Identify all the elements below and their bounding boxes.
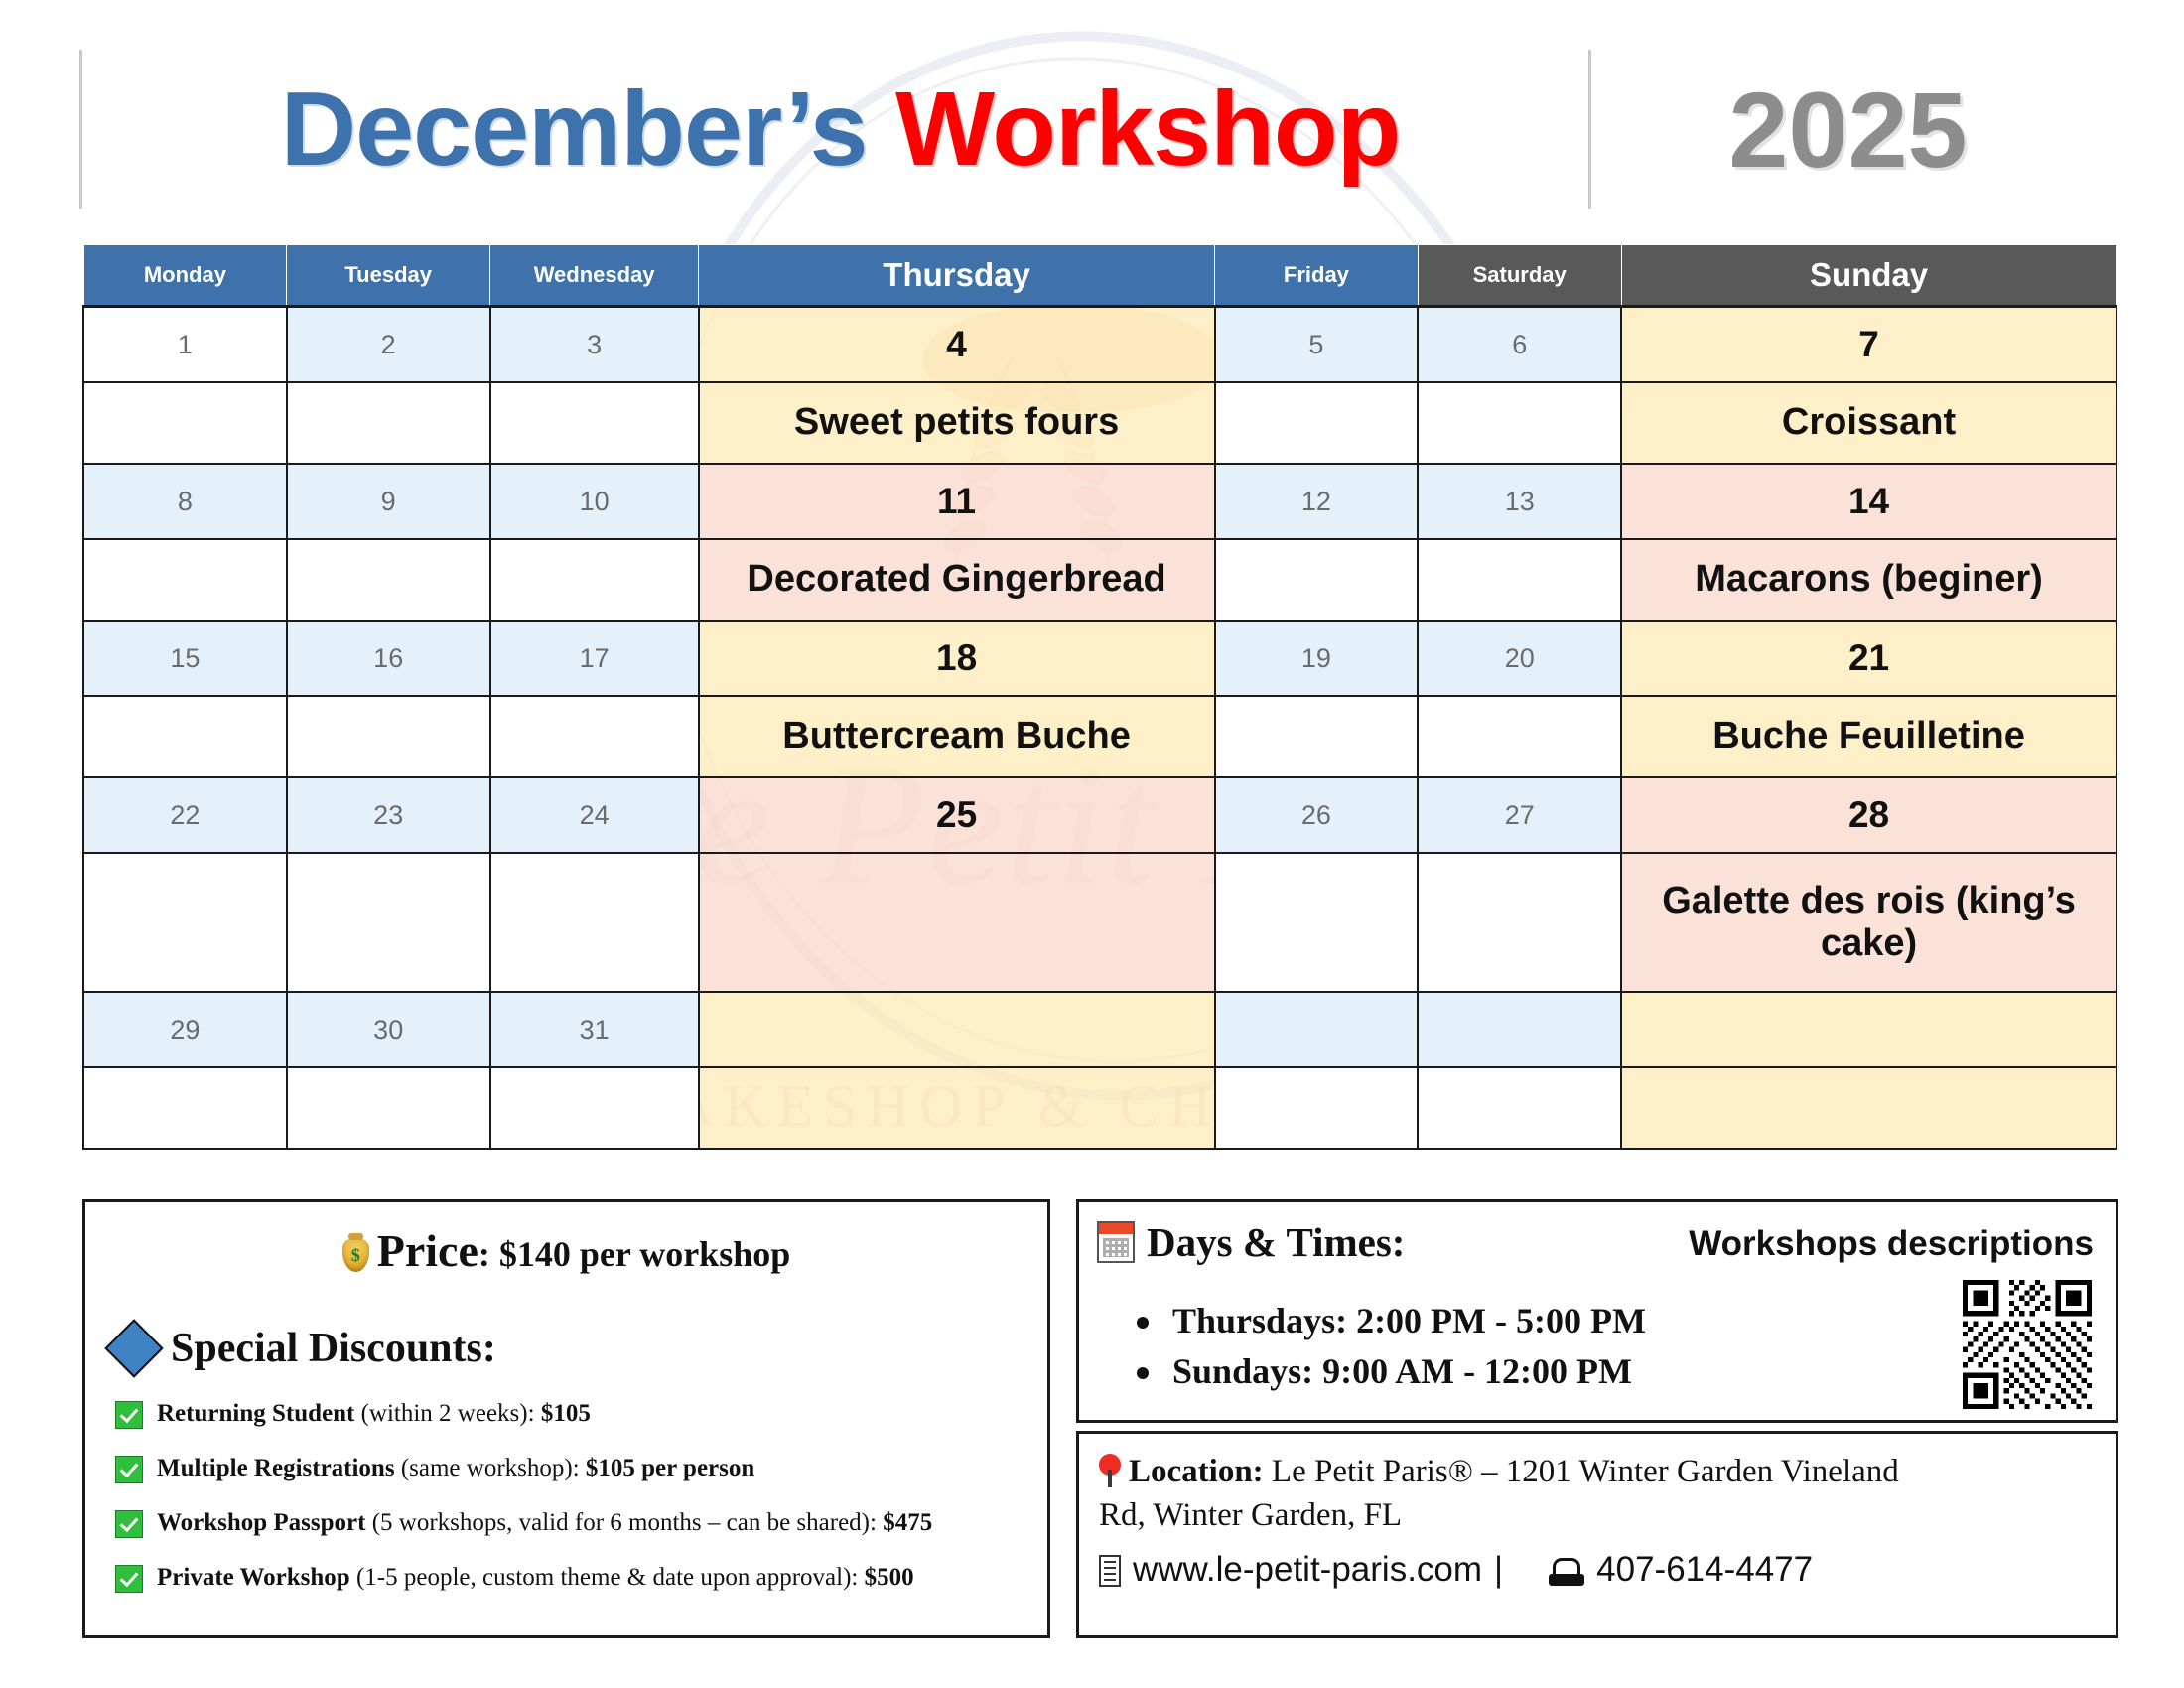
event-cell[interactable]	[287, 539, 490, 621]
date-cell[interactable]: 2	[287, 307, 490, 383]
title-workshop-text: Workshop	[895, 70, 1400, 188]
phone-number[interactable]: 407-614-4477	[1596, 1547, 1813, 1594]
calendar-event-row: Decorated Gingerbread Macarons (beginer)	[83, 539, 2116, 621]
date-cell[interactable]: 29	[83, 992, 287, 1067]
event-cell[interactable]	[83, 696, 287, 777]
contact-separator: |	[1494, 1547, 1503, 1594]
date-cell[interactable]	[1621, 992, 2116, 1067]
event-cell[interactable]	[287, 382, 490, 464]
event-cell[interactable]	[287, 853, 490, 992]
event-cell[interactable]	[1418, 853, 1621, 992]
event-cell[interactable]: Croissant	[1621, 382, 2116, 464]
date-cell[interactable]: 28	[1621, 777, 2116, 853]
date-cell[interactable]: 11	[699, 464, 1215, 539]
date-cell[interactable]: 26	[1215, 777, 1419, 853]
date-cell[interactable]: 3	[490, 307, 699, 383]
date-cell[interactable]: 21	[1621, 621, 2116, 696]
date-cell[interactable]: 13	[1418, 464, 1621, 539]
event-cell[interactable]	[83, 539, 287, 621]
event-cell[interactable]	[1215, 539, 1419, 621]
date-cell[interactable]: 24	[490, 777, 699, 853]
event-cell[interactable]	[287, 696, 490, 777]
date-cell[interactable]: 5	[1215, 307, 1419, 383]
price-panel: Price: $140 per workshop Special Discoun…	[82, 1199, 1050, 1638]
event-cell[interactable]	[1215, 1067, 1419, 1149]
calendar-icon	[1097, 1221, 1135, 1263]
event-cell[interactable]: Buche Feuilletine	[1621, 696, 2116, 777]
discount-detail: (same workshop):	[401, 1455, 586, 1481]
event-cell[interactable]	[1215, 382, 1419, 464]
event-cell-macarons[interactable]: Macarons (beginer)	[1621, 539, 2116, 621]
location-label: Location:	[1129, 1454, 1264, 1489]
calendar-table: Monday Tuesday Wednesday Thursday Friday…	[82, 244, 2117, 1150]
calendar-date-row: 8 9 10 11 12 13 14	[83, 464, 2116, 539]
special-discounts-heading: Special Discounts:	[113, 1325, 1047, 1372]
calendar-header-row: Monday Tuesday Wednesday Thursday Friday…	[83, 245, 2116, 307]
discount-name: Workshop Passport	[157, 1509, 372, 1536]
date-cell[interactable]: 15	[83, 621, 287, 696]
date-cell[interactable]: 20	[1418, 621, 1621, 696]
date-cell[interactable]: 31	[490, 992, 699, 1067]
special-discounts-label: Special Discounts:	[171, 1325, 496, 1372]
calendar-event-row: Galette des rois (king’s cake)	[83, 853, 2116, 992]
calendar-event-row: Buttercream Buche Buche Feuilletine	[83, 696, 2116, 777]
discount-amount: $500	[865, 1564, 914, 1591]
location-address-line2: Rd, Winter Garden, FL	[1099, 1493, 2096, 1537]
page-title: December’s Workshop	[79, 50, 1588, 209]
days-times-panel: Days & Times: Workshops descriptions Thu…	[1076, 1199, 2118, 1423]
day-header-friday: Friday	[1215, 245, 1419, 307]
page-title-bar: December’s Workshop 2025	[79, 50, 2105, 209]
phone-icon	[1549, 1556, 1584, 1586]
date-cell[interactable]: 4	[699, 307, 1215, 383]
event-cell[interactable]: Galette des rois (king’s cake)	[1621, 853, 2116, 992]
calendar-date-row: 29 30 31	[83, 992, 2116, 1067]
price-label: Price	[377, 1225, 478, 1276]
qr-code-icon[interactable]	[1963, 1280, 2092, 1409]
event-cell[interactable]: Sweet petits fours	[699, 382, 1215, 464]
day-header-saturday: Saturday	[1418, 245, 1621, 307]
diamond-icon	[104, 1319, 163, 1377]
event-cell[interactable]	[490, 539, 699, 621]
calendar-date-row: 15 16 17 18 19 20 21	[83, 621, 2116, 696]
discount-name: Multiple Registrations	[157, 1455, 401, 1481]
date-cell[interactable]: 7	[1621, 307, 2116, 383]
day-header-wednesday: Wednesday	[490, 245, 699, 307]
discount-amount: $105 per person	[586, 1455, 754, 1481]
money-bag-icon	[342, 1238, 369, 1272]
event-cell[interactable]	[1215, 696, 1419, 777]
event-cell[interactable]	[287, 1067, 490, 1149]
date-cell[interactable]: 17	[490, 621, 699, 696]
date-cell[interactable]: 18	[699, 621, 1215, 696]
calendar-event-row: Sweet petits fours Croissant	[83, 382, 2116, 464]
days-times-label: Days & Times:	[1147, 1218, 1405, 1266]
calendar-date-row: 22 23 24 25 26 27 28	[83, 777, 2116, 853]
check-icon	[115, 1565, 143, 1593]
event-cell[interactable]	[1418, 382, 1621, 464]
discount-detail: (5 workshops, valid for 6 months – can b…	[372, 1509, 883, 1536]
event-cell[interactable]	[83, 1067, 287, 1149]
date-cell[interactable]	[1418, 992, 1621, 1067]
title-year: 2025	[1588, 50, 2105, 209]
date-cell[interactable]: 9	[287, 464, 490, 539]
date-cell[interactable]: 23	[287, 777, 490, 853]
date-cell[interactable]: 14	[1621, 464, 2116, 539]
location-panel: Location: Le Petit Paris® – 1201 Winter …	[1076, 1431, 2118, 1638]
date-cell[interactable]: 1	[83, 307, 287, 383]
check-icon	[115, 1401, 143, 1429]
event-cell[interactable]	[83, 382, 287, 464]
discount-amount: $105	[541, 1400, 591, 1427]
check-icon	[115, 1510, 143, 1538]
event-cell[interactable]	[699, 1067, 1215, 1149]
list-item: Workshop Passport (5 workshops, valid fo…	[115, 1509, 1047, 1537]
price-value: : $140 per workshop	[478, 1234, 790, 1274]
date-cell[interactable]: 12	[1215, 464, 1419, 539]
event-cell[interactable]: Decorated Gingerbread	[699, 539, 1215, 621]
discount-name: Private Workshop	[157, 1564, 356, 1591]
list-item: Multiple Registrations (same workshop): …	[115, 1455, 1047, 1482]
event-cell: Macarons (beginer)	[1695, 558, 2043, 600]
date-cell[interactable]: 6	[1418, 307, 1621, 383]
date-cell[interactable]: 30	[287, 992, 490, 1067]
event-cell[interactable]	[490, 382, 699, 464]
event-cell[interactable]	[1418, 1067, 1621, 1149]
location-text: Location: Le Petit Paris® – 1201 Winter …	[1099, 1448, 2096, 1594]
location-address-line1: Le Petit Paris® – 1201 Winter Garden Vin…	[1264, 1454, 1899, 1489]
event-cell[interactable]	[1418, 696, 1621, 777]
event-cell[interactable]	[490, 853, 699, 992]
list-item: Returning Student (within 2 weeks): $105	[115, 1400, 1047, 1428]
discount-detail: (within 2 weeks):	[361, 1400, 541, 1427]
workshops-descriptions-label: Workshops descriptions	[1689, 1224, 2094, 1264]
event-cell[interactable]	[490, 1067, 699, 1149]
event-cell[interactable]	[1621, 1067, 2116, 1149]
discount-detail: (1-5 people, custom theme & date upon ap…	[356, 1564, 865, 1591]
list-item: Private Workshop (1-5 people, custom the…	[115, 1564, 1047, 1592]
date-cell[interactable]: 10	[490, 464, 699, 539]
check-icon	[115, 1456, 143, 1483]
website-icon	[1099, 1555, 1121, 1587]
date-cell[interactable]: 22	[83, 777, 287, 853]
calendar-date-row: 1 2 3 4 5 6 7	[83, 307, 2116, 383]
day-header-thursday: Thursday	[699, 245, 1215, 307]
website-link[interactable]: www.le-petit-paris.com	[1133, 1547, 1482, 1594]
day-header-monday: Monday	[83, 245, 287, 307]
discount-name: Returning Student	[157, 1400, 361, 1427]
day-header-tuesday: Tuesday	[287, 245, 490, 307]
contact-line: www.le-petit-paris.com | 407-614-4477	[1099, 1547, 2096, 1594]
title-month-text: December’s	[281, 70, 895, 188]
date-cell[interactable]: 16	[287, 621, 490, 696]
event-cell[interactable]	[490, 696, 699, 777]
event-cell[interactable]: Buttercream Buche	[699, 696, 1215, 777]
event-cell[interactable]	[699, 853, 1215, 992]
discount-amount: $475	[883, 1509, 932, 1536]
date-cell[interactable]	[699, 992, 1215, 1067]
event-cell[interactable]	[83, 853, 287, 992]
calendar-event-row	[83, 1067, 2116, 1149]
event-cell[interactable]	[1215, 853, 1419, 992]
date-cell[interactable]: 8	[83, 464, 287, 539]
discount-list: Returning Student (within 2 weeks): $105…	[115, 1400, 1047, 1592]
day-header-sunday: Sunday	[1621, 245, 2116, 307]
date-cell[interactable]: 19	[1215, 621, 1419, 696]
date-cell[interactable]	[1215, 992, 1419, 1067]
date-cell[interactable]: 25	[699, 777, 1215, 853]
map-pin-icon	[1099, 1454, 1121, 1487]
price-heading: Price: $140 per workshop	[85, 1224, 1047, 1277]
date-cell[interactable]: 27	[1418, 777, 1621, 853]
event-cell[interactable]	[1418, 539, 1621, 621]
